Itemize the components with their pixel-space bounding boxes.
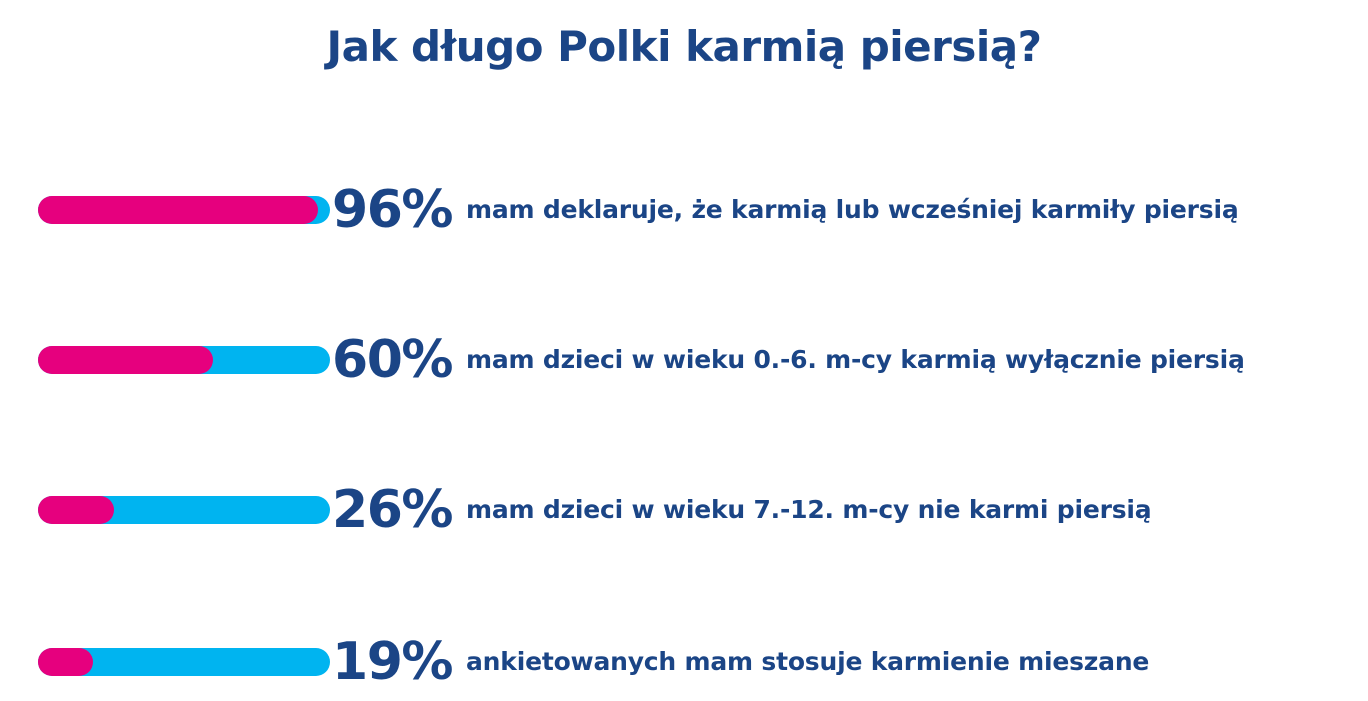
stat-percent: 26%: [330, 484, 458, 536]
stat-row: 26% mam dzieci w wieku 7.-12. m-cy nie k…: [0, 480, 1368, 540]
stat-percent: 60%: [330, 334, 458, 386]
stat-percent: 19%: [330, 636, 458, 688]
stat-row: 60% mam dzieci w wieku 0.-6. m-cy karmią…: [0, 330, 1368, 390]
progress-bar: [38, 196, 330, 224]
progress-bar: [38, 496, 330, 524]
stat-row: 19% ankietowanych mam stosuje karmienie …: [0, 632, 1368, 692]
progress-bar: [38, 648, 330, 676]
progress-bar-fill: [38, 196, 318, 224]
stat-row-list: 96% mam deklaruje, że karmią lub wcześni…: [0, 0, 1368, 701]
stat-description: ankietowanych mam stosuje karmienie mies…: [458, 648, 1368, 677]
progress-bar-fill: [38, 496, 114, 524]
stat-percent: 96%: [330, 184, 458, 236]
infographic-canvas: Jak długo Polki karmią piersią? 96% mam …: [0, 0, 1368, 701]
stat-description: mam deklaruje, że karmią lub wcześniej k…: [458, 196, 1368, 225]
progress-bar-fill: [38, 346, 213, 374]
stat-row: 96% mam deklaruje, że karmią lub wcześni…: [0, 180, 1368, 240]
progress-bar: [38, 346, 330, 374]
stat-description: mam dzieci w wieku 7.-12. m-cy nie karmi…: [458, 496, 1368, 525]
progress-bar-fill: [38, 648, 93, 676]
stat-description: mam dzieci w wieku 0.-6. m-cy karmią wył…: [458, 346, 1368, 375]
